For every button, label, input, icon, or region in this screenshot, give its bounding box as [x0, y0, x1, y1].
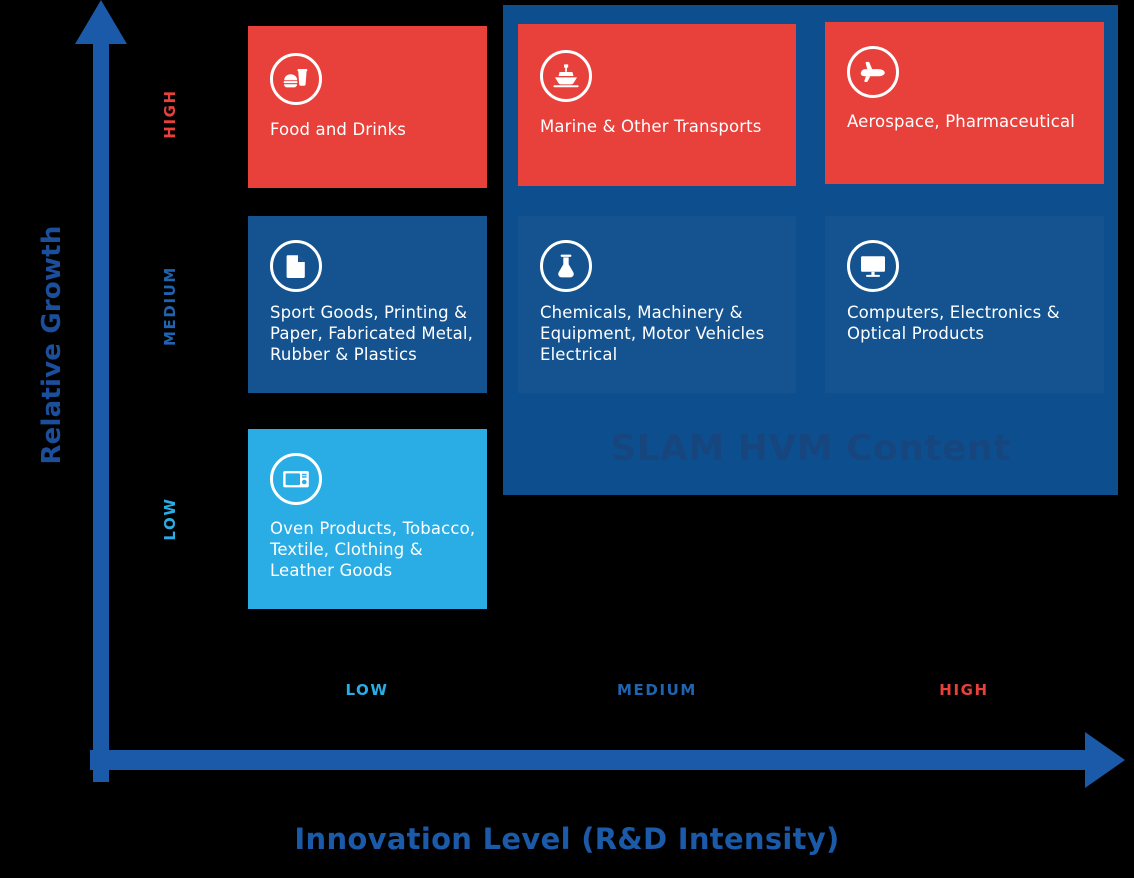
card-marine-other-transports[interactable]: Marine & Other Transports [518, 24, 796, 186]
x-tick-medium: MEDIUM [557, 681, 757, 699]
card-label: Computers, Electronics & Optical Product… [847, 302, 1095, 344]
card-label: Oven Products, Tobacco, Textile, Clothin… [270, 518, 482, 581]
card-food-and-drinks[interactable]: Food and Drinks [248, 26, 487, 188]
y-axis-arrow [75, 0, 127, 782]
card-label: Sport Goods, Printing & Paper, Fabricate… [270, 302, 475, 365]
y-tick-low: LOW [161, 459, 179, 579]
card-sport-goods-printing-paper[interactable]: Sport Goods, Printing & Paper, Fabricate… [248, 216, 487, 393]
y-tick-medium: MEDIUM [161, 246, 179, 366]
flask-icon [540, 240, 592, 292]
card-oven-products-tobacco-textile[interactable]: Oven Products, Tobacco, Textile, Clothin… [248, 429, 487, 609]
card-label: Marine & Other Transports [540, 116, 786, 137]
document-icon [270, 240, 322, 292]
y-axis-title: Relative Growth [37, 225, 67, 465]
card-aerospace-pharmaceutical[interactable]: Aerospace, Pharmaceutical [825, 22, 1104, 184]
x-tick-high: HIGH [864, 681, 1064, 699]
y-tick-high: HIGH [161, 54, 179, 174]
ship-icon [540, 50, 592, 102]
x-tick-low: LOW [267, 681, 467, 699]
airplane-icon [847, 46, 899, 98]
card-label: Aerospace, Pharmaceutical [847, 111, 1095, 132]
microwave-icon [270, 453, 322, 505]
x-axis-title: Innovation Level (R&D Intensity) [0, 822, 1134, 856]
matrix-chart: Relative Growth Innovation Level (R&D In… [0, 0, 1134, 878]
card-chemicals-machinery-equipment[interactable]: Chemicals, Machinery & Equipment, Motor … [518, 216, 796, 393]
monitor-icon [847, 240, 899, 292]
card-computers-electronics-optical[interactable]: Computers, Electronics & Optical Product… [825, 216, 1104, 393]
x-axis-arrow [90, 732, 1125, 788]
burger-drink-icon [270, 53, 322, 105]
card-label: Food and Drinks [270, 119, 470, 140]
card-label: Chemicals, Machinery & Equipment, Motor … [540, 302, 786, 365]
